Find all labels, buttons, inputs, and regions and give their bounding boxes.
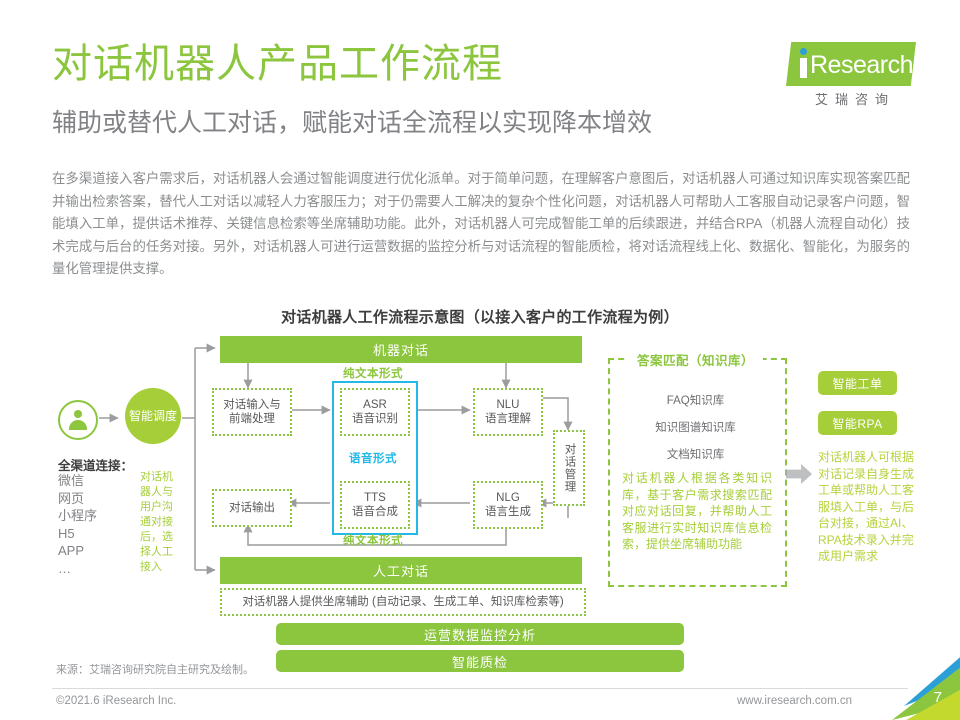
tts-line1: TTS bbox=[364, 491, 386, 505]
dialog-input-line1: 对话输入与 bbox=[223, 398, 281, 412]
ops-monitoring-label: 运营数据监控分析 bbox=[424, 625, 536, 644]
nlu-line1: NLU bbox=[496, 398, 519, 412]
asr-line1: ASR bbox=[363, 398, 387, 412]
page-number: 7 bbox=[934, 689, 942, 706]
footer-divider bbox=[52, 688, 908, 689]
voice-form-label: 语音形式 bbox=[332, 450, 414, 466]
quality-inspection-label: 智能质检 bbox=[452, 652, 508, 671]
dialog-input-box[interactable]: 对话输入与 前端处理 bbox=[212, 388, 292, 436]
channels-text: 微信 网页 小程序 H5 APP … bbox=[58, 473, 97, 576]
tts-line2: 语音合成 bbox=[352, 505, 398, 519]
human-assist-box: 对话机器人提供坐席辅助 (自动记录、生成工单、知识库检索等) bbox=[220, 588, 586, 616]
text-form-bottom-label: 纯文本形式 bbox=[332, 532, 414, 548]
nlg-line2: 语言生成 bbox=[485, 505, 531, 519]
human-dialog-label: 人工对话 bbox=[373, 561, 429, 580]
user-avatar-icon bbox=[58, 400, 98, 440]
ops-monitoring-bar[interactable]: 运营数据监控分析 bbox=[276, 623, 684, 645]
tts-box[interactable]: TTS 语音合成 bbox=[340, 481, 410, 529]
quality-inspection-bar[interactable]: 智能质检 bbox=[276, 650, 684, 672]
knowledge-base-title: 答案匹配（知识库） bbox=[628, 350, 763, 369]
asr-line2: 语音识别 bbox=[352, 412, 398, 426]
corner-decoration bbox=[882, 656, 960, 720]
knowledge-base-description: 对话机器人根据各类知识库，基于客户需求搜索匹配对应对话回复，并帮助人工客服进行实… bbox=[622, 470, 772, 553]
dialog-management-box[interactable]: 对话管理 bbox=[553, 430, 585, 506]
smart-ticket-label: 智能工单 bbox=[832, 375, 882, 392]
slide-page: 对话机器人产品工作流程 辅助或替代人工对话，赋能对话全流程以实现降本增效 Res… bbox=[0, 0, 960, 720]
text-form-top-label: 纯文本形式 bbox=[332, 365, 414, 381]
nlg-line1: NLG bbox=[496, 491, 520, 505]
machine-dialog-bar[interactable]: 机器对话 bbox=[220, 336, 582, 363]
rpa-description: 对话机器人可根据对话记录自身生成工单或帮助人工客服填入工单，与后台对接，通过AI… bbox=[818, 449, 923, 565]
dialog-output-line1: 对话输出 bbox=[229, 501, 275, 515]
scheduler-label-1: 智能调度 bbox=[129, 409, 177, 424]
scheduler-node[interactable]: 智能调度 bbox=[125, 388, 181, 444]
smart-rpa-label: 智能RPA bbox=[832, 415, 882, 432]
smart-rpa-button[interactable]: 智能RPA bbox=[818, 411, 897, 435]
copyright-text: ©2021.6 iResearch Inc. bbox=[56, 695, 176, 707]
human-dialog-bar[interactable]: 人工对话 bbox=[220, 557, 582, 584]
nlg-box[interactable]: NLG 语言生成 bbox=[473, 481, 543, 529]
handoff-note: 对话机器人与用户沟通对接后，选择人工接入 bbox=[140, 470, 180, 575]
asr-box[interactable]: ASR 语音识别 bbox=[340, 388, 410, 436]
source-note: 来源：艾瑞咨询研究院自主研究及绘制。 bbox=[56, 661, 254, 677]
dialog-output-box[interactable]: 对话输出 bbox=[212, 489, 292, 527]
human-assist-label: 对话机器人提供坐席辅助 (自动记录、生成工单、知识库检索等) bbox=[242, 595, 563, 609]
machine-dialog-label: 机器对话 bbox=[373, 340, 429, 359]
website-url: www.iresearch.com.cn bbox=[737, 695, 852, 707]
dialog-input-line2: 前端处理 bbox=[229, 412, 275, 426]
dialog-management-label: 对话管理 bbox=[563, 443, 576, 493]
kb-item-0[interactable]: FAQ知识库 bbox=[608, 392, 783, 408]
nlu-box[interactable]: NLU 语言理解 bbox=[473, 388, 543, 436]
channels-list: 微信 网页 小程序 H5 APP … bbox=[58, 472, 97, 577]
kb-item-1[interactable]: 知识图谱知识库 bbox=[608, 419, 783, 435]
nlu-line2: 语言理解 bbox=[485, 412, 531, 426]
kb-item-2[interactable]: 文档知识库 bbox=[608, 446, 783, 462]
smart-ticket-button[interactable]: 智能工单 bbox=[818, 371, 897, 395]
